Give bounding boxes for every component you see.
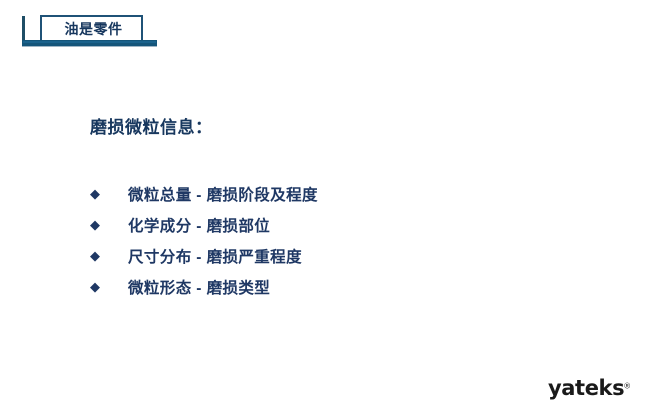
list-item-label: 尺寸分布 - 磨损严重程度	[128, 245, 302, 267]
list-item-label: 化学成分 - 磨损部位	[128, 214, 270, 236]
registered-trademark-icon: ®	[624, 382, 630, 391]
diamond-bullet-icon: ◆	[90, 218, 128, 231]
section-title: 磨损微粒信息：	[90, 113, 213, 138]
list-item: ◆ 化学成分 - 磨损部位	[90, 209, 570, 240]
slide-content: 磨损微粒信息： ◆ 微粒总量 - 磨损阶段及程度 ◆ 化学成分 - 磨损部位 ◆…	[0, 0, 650, 405]
diamond-bullet-icon: ◆	[90, 249, 128, 262]
list-item: ◆ 尺寸分布 - 磨损严重程度	[90, 240, 570, 271]
list-item-label: 微粒形态 - 磨损类型	[128, 276, 270, 298]
bullet-list: ◆ 微粒总量 - 磨损阶段及程度 ◆ 化学成分 - 磨损部位 ◆ 尺寸分布 - …	[90, 178, 570, 302]
list-item-label: 微粒总量 - 磨损阶段及程度	[128, 183, 318, 205]
diamond-bullet-icon: ◆	[90, 187, 128, 200]
brand-logo-text: yateks	[548, 376, 624, 400]
list-item: ◆ 微粒形态 - 磨损类型	[90, 271, 570, 302]
diamond-bullet-icon: ◆	[90, 280, 128, 293]
brand-logo: yateks®	[548, 376, 630, 398]
list-item: ◆ 微粒总量 - 磨损阶段及程度	[90, 178, 570, 209]
slide-canvas: 油是零件 磨损微粒信息： ◆ 微粒总量 - 磨损阶段及程度 ◆ 化学成分 - 磨…	[0, 0, 650, 405]
